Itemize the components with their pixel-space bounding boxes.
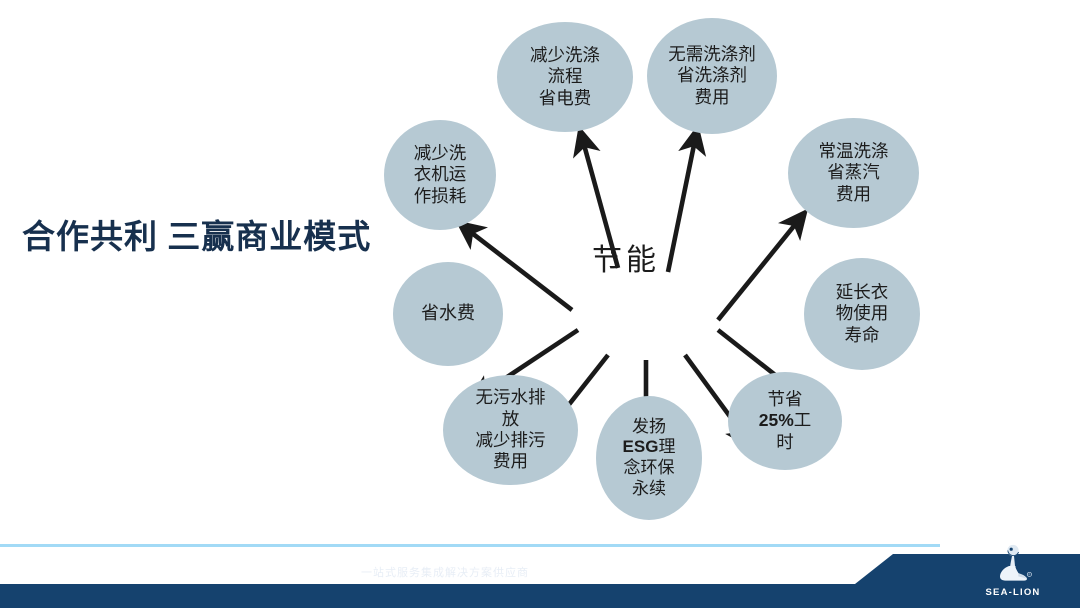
radial-diagram: 节能 减少洗涤 流程 省电费 无需洗涤剂 省洗涤剂 费用 常温洗涤 省蒸汽 费用… [360, 0, 1000, 545]
node-reduce-wash-process[interactable]: 减少洗涤 流程 省电费 [497, 22, 633, 132]
slide-footer: 一站式服务集成解决方案供应商 R SEA-LION [0, 528, 1080, 608]
footer-band-sheen [0, 544, 940, 547]
node-esg[interactable]: 发扬 ESG理 念环保 永续 [596, 396, 702, 520]
node-reduce-machine-wear[interactable]: 减少洗 衣机运 作损耗 [384, 120, 496, 230]
node-label: 省水费 [397, 303, 499, 325]
svg-text:R: R [1028, 572, 1030, 576]
brand-logo: R SEA-LION [970, 544, 1056, 600]
brand-wordmark: SEA-LION [970, 587, 1056, 598]
node-label: 延长衣 物使用 寿命 [808, 282, 916, 346]
page-title: 合作共利 三赢商业模式 [22, 210, 371, 258]
node-no-wastewater[interactable]: 无污水排 放 减少排污 费用 [443, 375, 578, 485]
node-label: 发扬 ESG理 念环保 永续 [600, 417, 698, 500]
node-save-water-fee[interactable]: 省水费 [393, 262, 503, 366]
node-label: 无污水排 放 减少排污 费用 [447, 387, 574, 472]
node-label: 无需洗涤剂 省洗涤剂 费用 [651, 44, 773, 108]
node-label: 常温洗涤 省蒸汽 费用 [792, 141, 915, 205]
node-ambient-wash[interactable]: 常温洗涤 省蒸汽 费用 [788, 118, 919, 228]
arrow-to-no-detergent [668, 140, 695, 272]
slide-canvas: 合作共利 三赢商业模式 [0, 0, 1080, 608]
sea-lion-icon: R [991, 544, 1035, 586]
diagram-center-label: 节能 [592, 235, 660, 279]
footer-tagline: 一站式服务集成解决方案供应商 [0, 564, 985, 580]
node-extend-garment-life[interactable]: 延长衣 物使用 寿命 [804, 258, 920, 370]
node-save-labor-hours[interactable]: 节省 25%工 时 [728, 372, 842, 470]
node-label: 减少洗 衣机运 作损耗 [388, 143, 492, 207]
node-label: 减少洗涤 流程 省电费 [501, 45, 629, 109]
node-label: 节省 25%工 时 [732, 389, 838, 453]
arrow-to-ambient-wash [718, 221, 798, 320]
node-no-detergent[interactable]: 无需洗涤剂 省洗涤剂 费用 [647, 18, 777, 134]
